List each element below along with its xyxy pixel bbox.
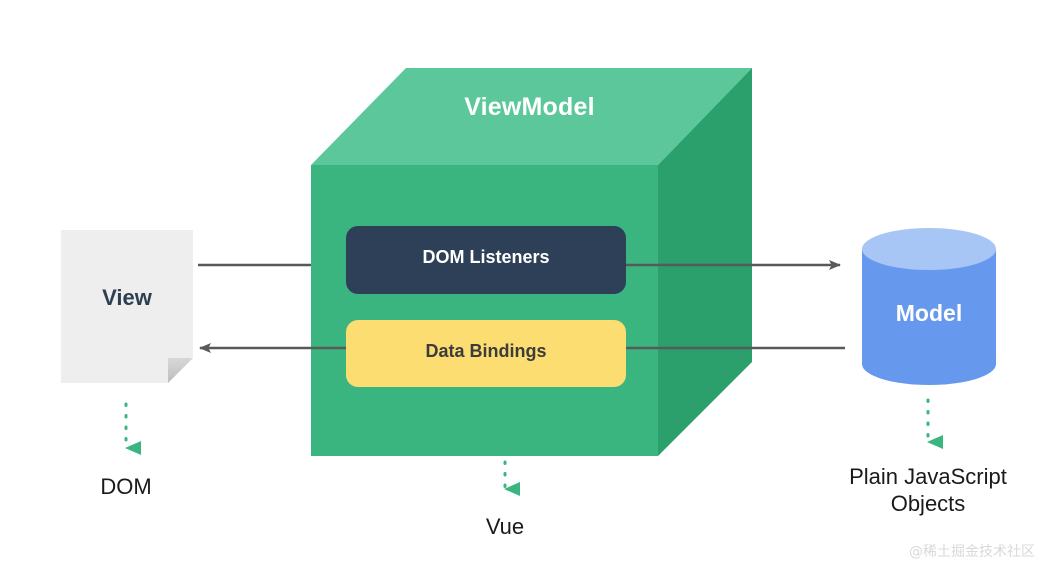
model-node[interactable]	[862, 228, 996, 385]
view-document-fold	[168, 358, 193, 383]
diagram-shapes	[0, 0, 1045, 567]
cube-front-face	[311, 165, 658, 456]
view-node[interactable]	[61, 230, 193, 383]
diagram-canvas: ViewModel View Model DOM Listeners Data …	[0, 0, 1045, 567]
data-bindings-box[interactable]	[346, 320, 626, 387]
cylinder-top	[862, 228, 996, 270]
dom-listeners-box[interactable]	[346, 226, 626, 294]
